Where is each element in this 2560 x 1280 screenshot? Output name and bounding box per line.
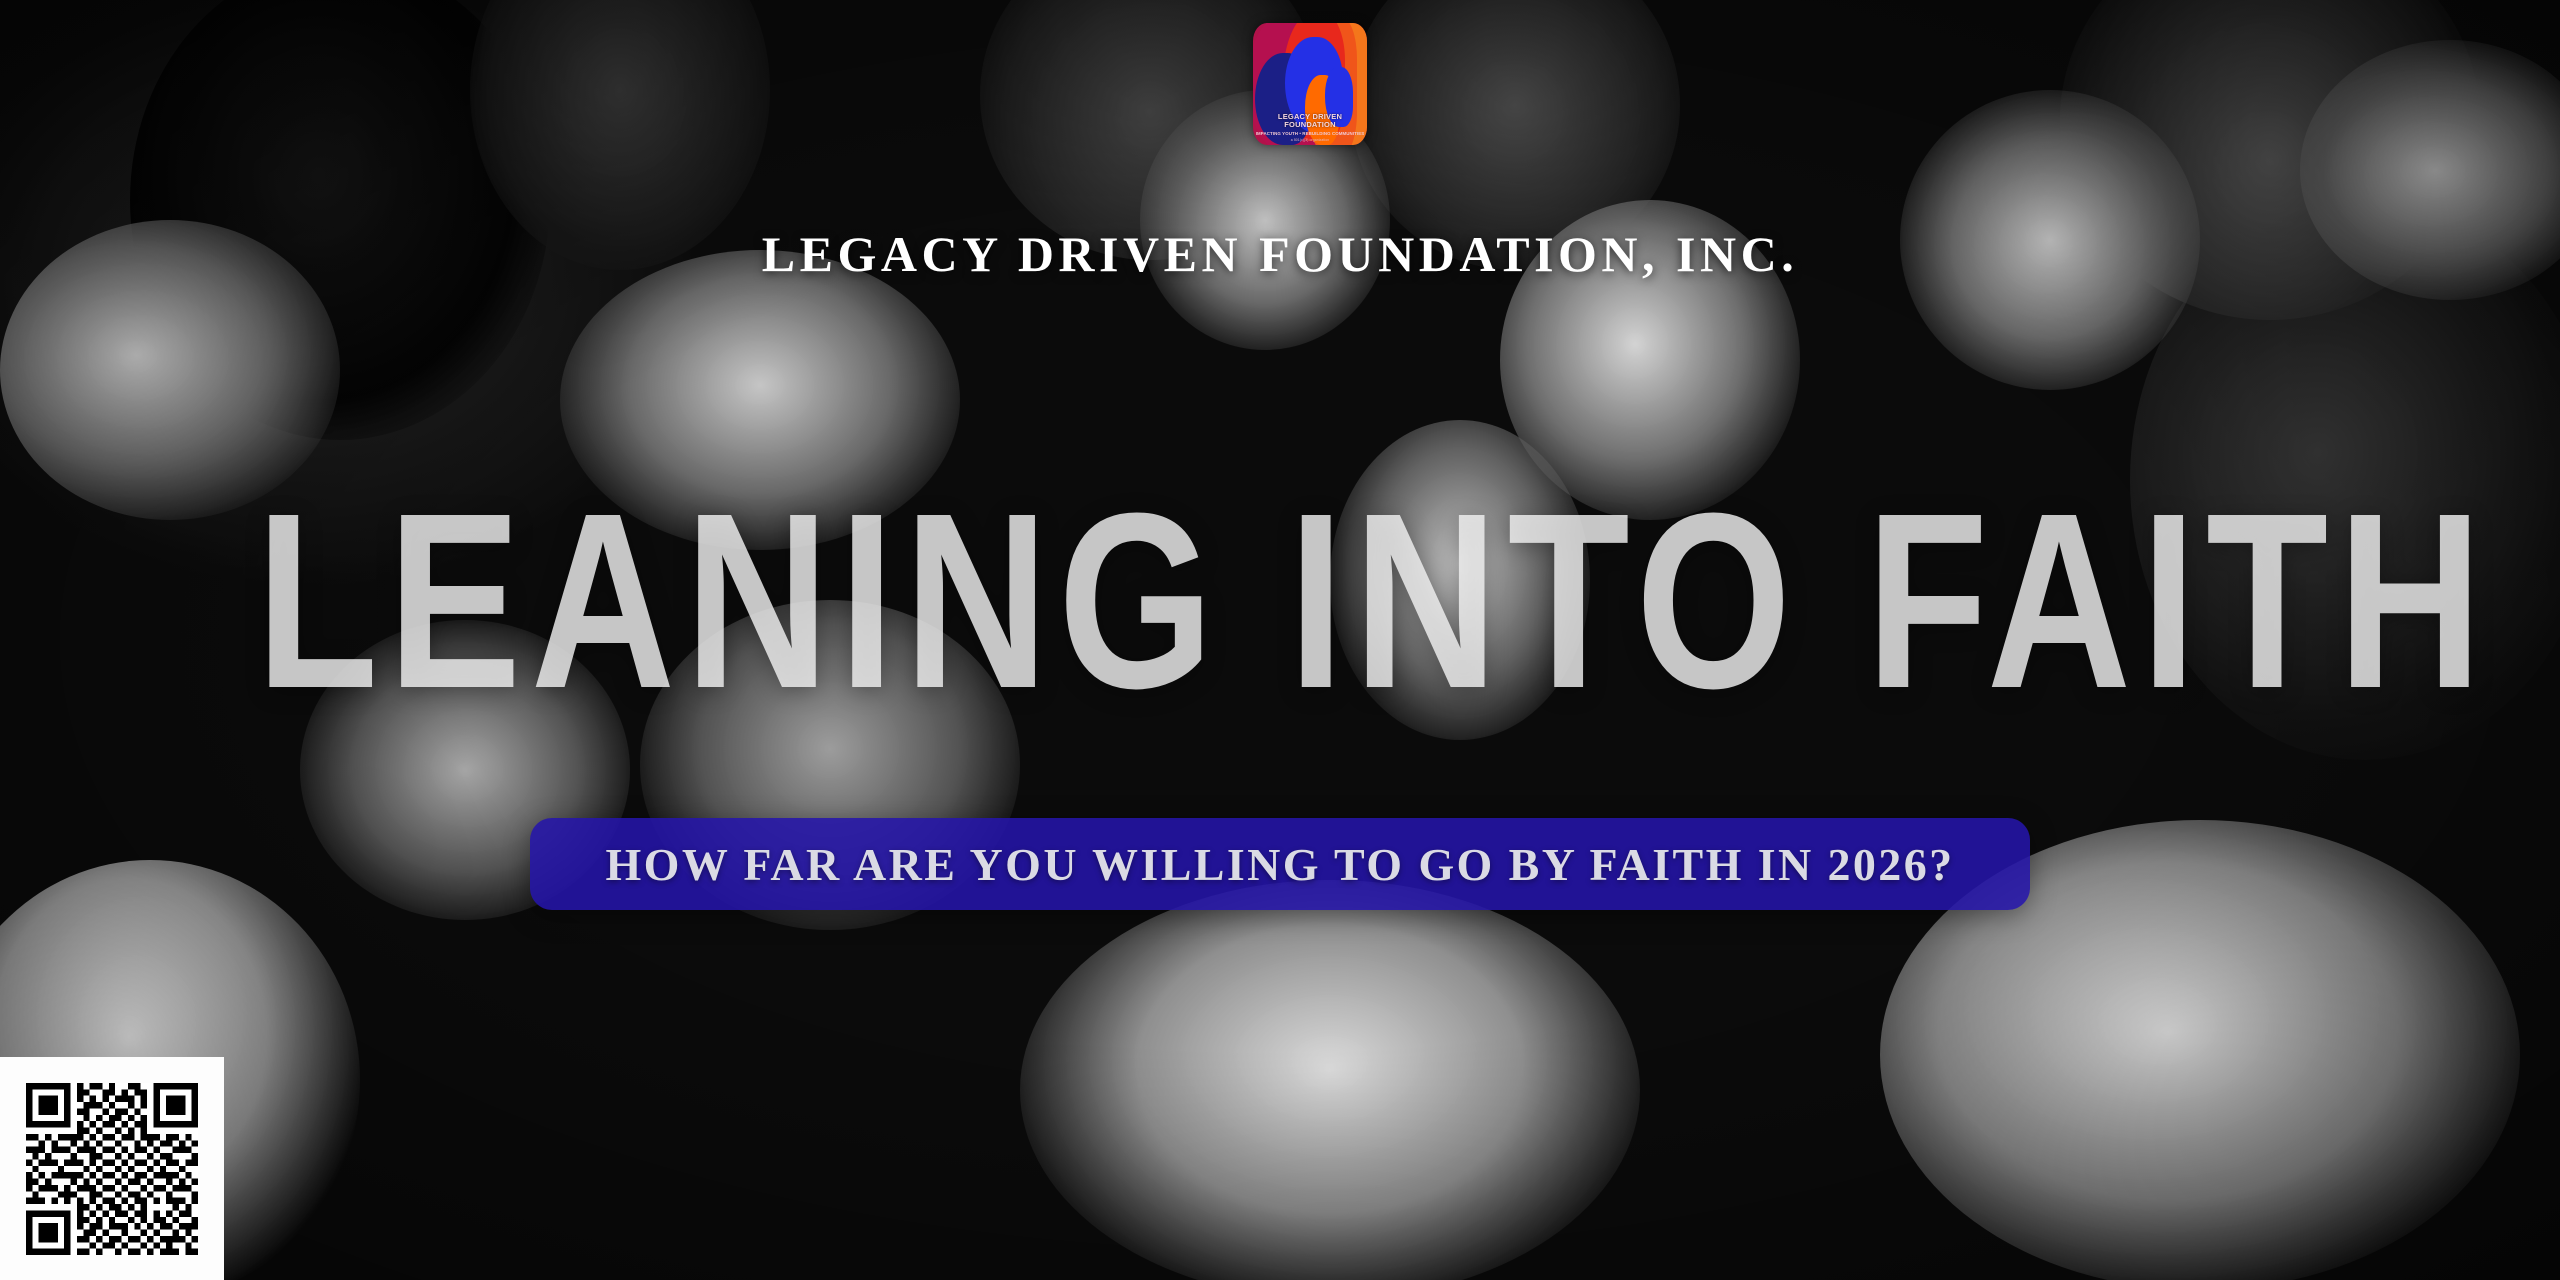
organization-name: LEGACY DRIVEN FOUNDATION, INC. — [0, 225, 2560, 283]
poster-canvas: LEGACY DRIVEN FOUNDATION IMPACTING YOUTH… — [0, 0, 2560, 1280]
qr-code[interactable] — [26, 1083, 198, 1255]
qr-code-panel[interactable] — [0, 1057, 224, 1280]
logo-subnote: a 501(c)(3) organization — [1253, 138, 1367, 142]
logo-wordmark: LEGACY DRIVEN FOUNDATION — [1253, 113, 1367, 130]
page-title: LEANING INTO FAITH — [256, 478, 2304, 723]
subtitle-text: HOW FAR ARE YOU WILLING TO GO BY FAITH I… — [605, 838, 1954, 891]
three-head-silhouettes-logo-icon: LEGACY DRIVEN FOUNDATION IMPACTING YOUTH… — [1253, 23, 1367, 145]
logo-tagline: IMPACTING YOUTH • REBUILDING COMMUNITIES — [1253, 131, 1367, 136]
organization-logo[interactable]: LEGACY DRIVEN FOUNDATION IMPACTING YOUTH… — [1253, 23, 1367, 145]
subtitle-banner: HOW FAR ARE YOU WILLING TO GO BY FAITH I… — [530, 818, 2030, 910]
